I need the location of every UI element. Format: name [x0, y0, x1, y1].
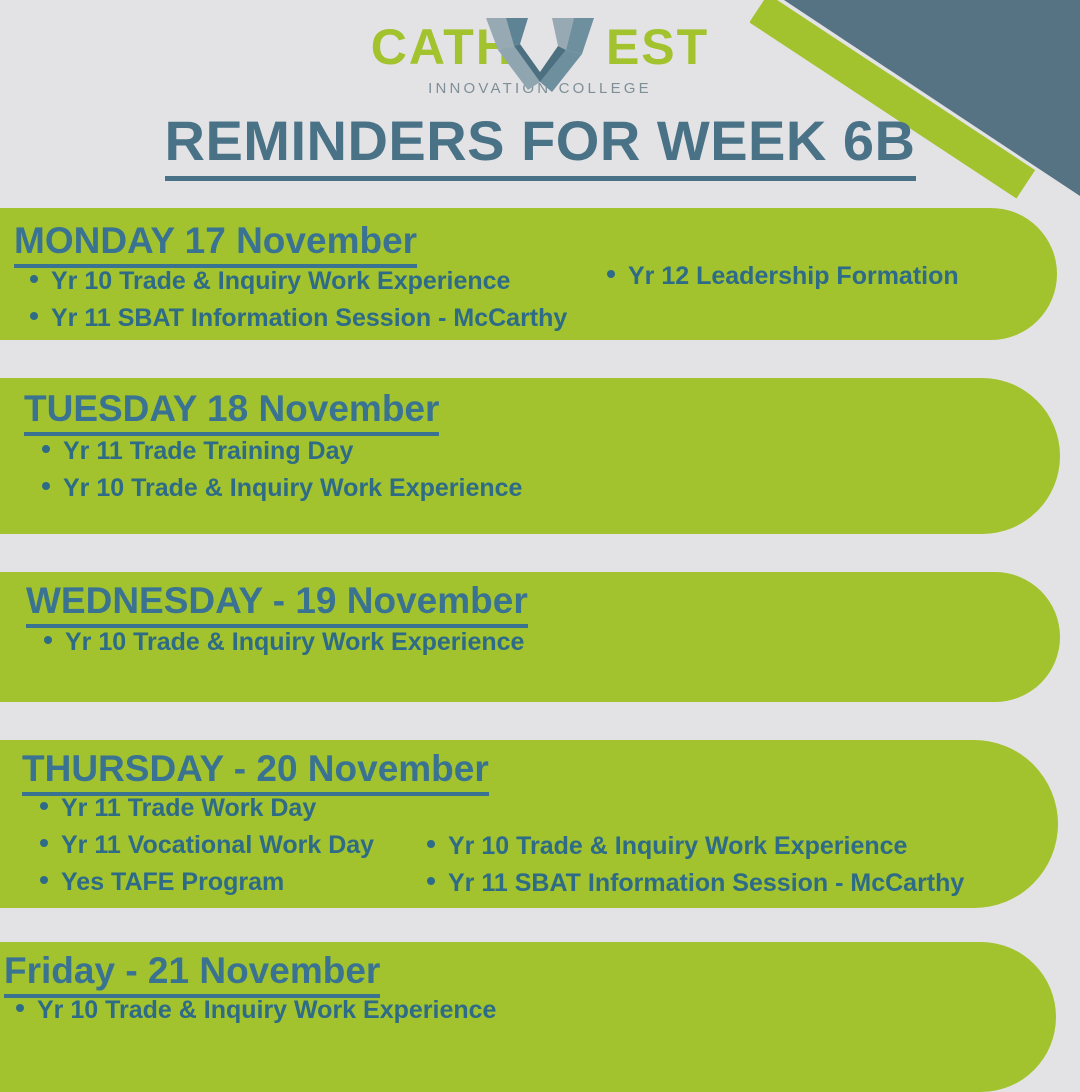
list-item-label: Yr 11 Vocational Work Day — [61, 827, 374, 864]
list-item-label: Yr 10 Trade & Inquiry Work Experience — [63, 470, 522, 507]
day-heading-text: WEDNESDAY - 19 November — [26, 580, 528, 628]
list-item: Yr 10 Trade & Inquiry Work Experience — [16, 992, 496, 1029]
logo-text-right: EST — [606, 19, 709, 75]
bullet-icon — [42, 482, 50, 490]
bullet-icon — [40, 802, 48, 810]
bullet-icon — [40, 839, 48, 847]
list-item: Yr 11 Vocational Work Day — [40, 827, 374, 864]
list-item-label: Yr 11 Trade Work Day — [61, 790, 316, 827]
bullet-icon — [40, 876, 48, 884]
day-heading: TUESDAY 18 November — [24, 388, 439, 430]
day-heading-text: MONDAY 17 November — [14, 220, 417, 268]
logo-wordmark: CATHEST — [371, 18, 709, 76]
list-item-label: Yr 12 Leadership Formation — [628, 258, 959, 295]
day-heading: THURSDAY - 20 November — [22, 748, 489, 790]
list-item-label: Yr 11 SBAT Information Session - McCarth… — [51, 300, 567, 337]
page-title-text: REMINDERS FOR WEEK 6B — [165, 109, 916, 181]
bullet-icon — [427, 877, 435, 885]
list-item: Yr 10 Trade & Inquiry Work Experience — [42, 470, 522, 507]
day-item-column: Yr 10 Trade & Inquiry Work Experience — [44, 624, 524, 661]
bullet-icon — [427, 840, 435, 848]
day-heading: Friday - 21 November — [4, 950, 380, 992]
day-heading-text: Friday - 21 November — [4, 950, 380, 998]
day-item-column: Yr 11 Trade Training DayYr 10 Trade & In… — [42, 433, 522, 507]
list-item: Yr 11 Trade Training Day — [42, 433, 522, 470]
list-item: Yr 10 Trade & Inquiry Work Experience — [427, 828, 964, 865]
day-bar: MONDAY 17 November Yr 10 Trade & Inquiry… — [0, 208, 1057, 340]
day-item-column: Yr 10 Trade & Inquiry Work ExperienceYr … — [30, 263, 567, 337]
day-bar: Friday - 21 NovemberYr 10 Trade & Inquir… — [0, 942, 1056, 1092]
bullet-icon — [30, 312, 38, 320]
list-item: Yr 11 SBAT Information Session - McCarth… — [427, 865, 964, 902]
day-bar: THURSDAY - 20 NovemberYr 11 Trade Work D… — [0, 740, 1058, 908]
list-item-label: Yr 10 Trade & Inquiry Work Experience — [51, 263, 510, 300]
bullet-icon — [30, 275, 38, 283]
logo-w-chevron-icon — [484, 10, 596, 94]
list-item: Yr 11 SBAT Information Session - McCarth… — [30, 300, 567, 337]
day-bar: TUESDAY 18 November Yr 11 Trade Training… — [0, 378, 1060, 534]
page-title: REMINDERS FOR WEEK 6B — [0, 108, 1080, 173]
day-bar: WEDNESDAY - 19 November Yr 10 Trade & In… — [0, 572, 1060, 702]
day-item-column: Yr 11 Trade Work DayYr 11 Vocational Wor… — [40, 790, 374, 901]
cathwest-logo: CATHEST INNOVATION COLLEGE — [0, 18, 1080, 113]
day-heading-text: THURSDAY - 20 November — [22, 748, 489, 796]
day-heading: MONDAY 17 November — [14, 220, 417, 262]
list-item-label: Yr 10 Trade & Inquiry Work Experience — [448, 828, 907, 865]
list-item: Yr 11 Trade Work Day — [40, 790, 374, 827]
bullet-icon — [44, 636, 52, 644]
list-item-label: Yes TAFE Program — [61, 864, 284, 901]
day-heading-text: TUESDAY 18 November — [24, 388, 439, 436]
bullet-icon — [42, 445, 50, 453]
list-item: Yr 12 Leadership Formation — [607, 258, 959, 295]
bullet-icon — [607, 270, 615, 278]
list-item-label: Yr 11 Trade Training Day — [63, 433, 353, 470]
list-item: Yr 10 Trade & Inquiry Work Experience — [44, 624, 524, 661]
list-item-label: Yr 11 SBAT Information Session - McCarth… — [448, 865, 964, 902]
day-item-column: Yr 10 Trade & Inquiry Work ExperienceYr … — [427, 828, 964, 902]
day-heading: WEDNESDAY - 19 November — [26, 580, 528, 622]
bullet-icon — [16, 1004, 24, 1012]
list-item: Yr 10 Trade & Inquiry Work Experience — [30, 263, 567, 300]
list-item-label: Yr 10 Trade & Inquiry Work Experience — [65, 624, 524, 661]
day-item-column: Yr 10 Trade & Inquiry Work Experience — [16, 992, 496, 1029]
day-item-column: Yr 12 Leadership Formation — [607, 258, 959, 295]
list-item-label: Yr 10 Trade & Inquiry Work Experience — [37, 992, 496, 1029]
list-item: Yes TAFE Program — [40, 864, 374, 901]
